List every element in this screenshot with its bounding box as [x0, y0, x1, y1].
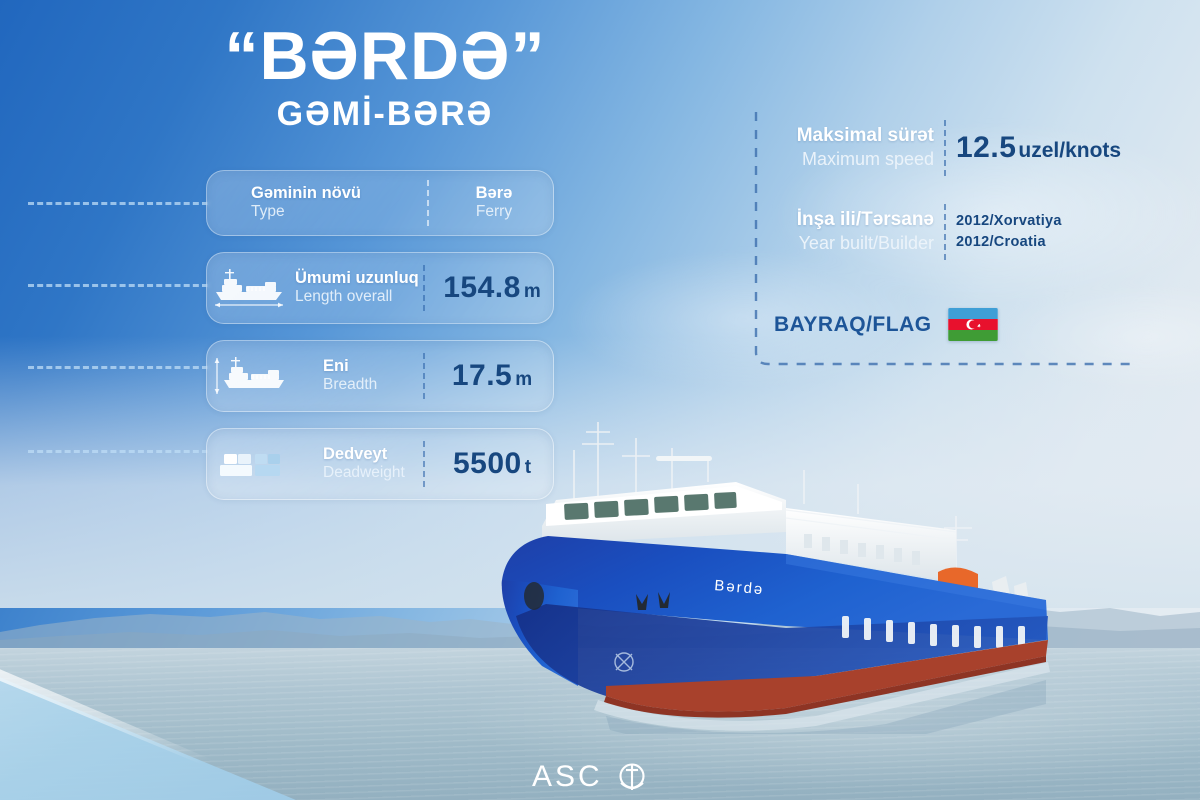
spec-card-deadweight-labels: Dedveyt Deadweight: [293, 445, 423, 483]
spec-card-deadweight-unit: t: [525, 457, 531, 479]
ship-image: Bərdə: [486, 404, 1126, 734]
spec-card-type-icon-slot: [207, 171, 249, 235]
spec-card-length[interactable]: Ümumi uzunluq Length overall 154.8 m: [206, 252, 554, 324]
connector-line-2: [28, 284, 208, 287]
max-speed-label-en: Maximum speed: [774, 148, 934, 171]
spec-card-breadth-labels: Eni Breadth: [293, 357, 423, 395]
spec-card-type-value-en: Ferry: [476, 203, 512, 222]
spec-card-list: Gəminin növü Type Bərə Ferry: [206, 170, 554, 516]
right-row-flag[interactable]: BAYRAQ/FLAG: [774, 308, 998, 341]
spec-card-type-labels: Gəminin növü Type: [249, 184, 427, 222]
azerbaijan-flag-icon: [948, 308, 998, 341]
year-built-label-az: İnşa ili/Tərsanə: [772, 209, 934, 232]
right-row-max-speed[interactable]: Maksimal sürət Maximum speed 12.5 uzel/k…: [774, 120, 1121, 176]
year-built-labels: İnşa ili/Tərsanə Year built/Builder: [772, 209, 934, 254]
title-block: “BƏRDƏ” GƏMİ-BƏRƏ: [150, 22, 620, 134]
connector-line-1: [28, 202, 208, 205]
asco-logo-text: ASC: [532, 760, 603, 793]
flag-label: BAYRAQ/FLAG: [774, 313, 932, 337]
page-subtitle: GƏMİ-BƏRƏ: [150, 95, 620, 134]
max-speed-value: 12.5 uzel/knots: [956, 131, 1121, 165]
spec-card-length-labels: Ümumi uzunluq Length overall: [293, 269, 423, 307]
year-built-value-en: 2012/Croatia: [956, 232, 1062, 253]
spec-card-deadweight-value: 5500 t: [425, 447, 553, 481]
cargo-boxes-icon: [207, 429, 293, 499]
year-built-value: 2012/Xorvatiya 2012/Croatia: [956, 211, 1062, 253]
spec-card-deadweight-label-en: Deadweight: [323, 464, 423, 483]
spec-card-length-label-az: Ümumi uzunluq: [295, 269, 423, 288]
asco-logo: ASC: [528, 756, 678, 796]
spec-card-deadweight-label-az: Dedveyt: [323, 445, 423, 464]
spec-card-type-value: Bərə Ferry: [429, 184, 553, 222]
spec-card-type-label-en: Type: [251, 203, 427, 222]
spec-card-breadth-value: 17.5 m: [425, 359, 553, 393]
spec-card-breadth[interactable]: Eni Breadth 17.5 m: [206, 340, 554, 412]
max-speed-number: 12.5: [956, 131, 1016, 165]
spec-card-length-label-en: Length overall: [295, 288, 423, 307]
spec-card-breadth-number: 17.5: [452, 359, 512, 393]
spec-card-length-number: 154.8: [443, 271, 521, 305]
spec-card-length-unit: m: [524, 281, 541, 303]
right-spec-panel: Maksimal sürət Maximum speed 12.5 uzel/k…: [752, 112, 1182, 374]
ship-breadth-icon: [207, 341, 293, 411]
spec-card-breadth-label-en: Breadth: [323, 376, 423, 395]
max-speed-unit: uzel/knots: [1018, 139, 1121, 163]
spec-card-breadth-label-az: Eni: [323, 357, 423, 376]
max-speed-label-az: Maksimal sürət: [774, 125, 934, 148]
spec-card-breadth-unit: m: [515, 369, 532, 391]
spec-card-type-label-az: Gəminin növü: [251, 184, 427, 203]
max-speed-divider: [944, 120, 946, 176]
anchor-icon: [621, 764, 644, 790]
spec-card-deadweight-number: 5500: [453, 447, 522, 481]
connector-line-4: [28, 450, 208, 453]
max-speed-labels: Maksimal sürət Maximum speed: [774, 125, 934, 170]
connector-line-3: [28, 366, 208, 369]
spec-card-length-value: 154.8 m: [425, 271, 553, 305]
infographic-canvas: Bərdə “BƏRDƏ” GƏMİ-BƏRƏ Gəminin növü Typ…: [0, 0, 1200, 800]
left-connector-lines: [0, 0, 210, 520]
ship-length-icon: [207, 253, 293, 323]
page-title: “BƏRDƏ”: [150, 22, 620, 91]
year-built-divider: [944, 204, 946, 260]
spec-card-type[interactable]: Gəminin növü Type Bərə Ferry: [206, 170, 554, 236]
spec-card-type-value-az: Bərə: [476, 184, 513, 203]
year-built-value-az: 2012/Xorvatiya: [956, 211, 1062, 232]
right-row-year-built[interactable]: İnşa ili/Tərsanə Year built/Builder 2012…: [772, 204, 1062, 260]
year-built-label-en: Year built/Builder: [772, 232, 934, 255]
spec-card-deadweight[interactable]: Dedveyt Deadweight 5500 t: [206, 428, 554, 500]
